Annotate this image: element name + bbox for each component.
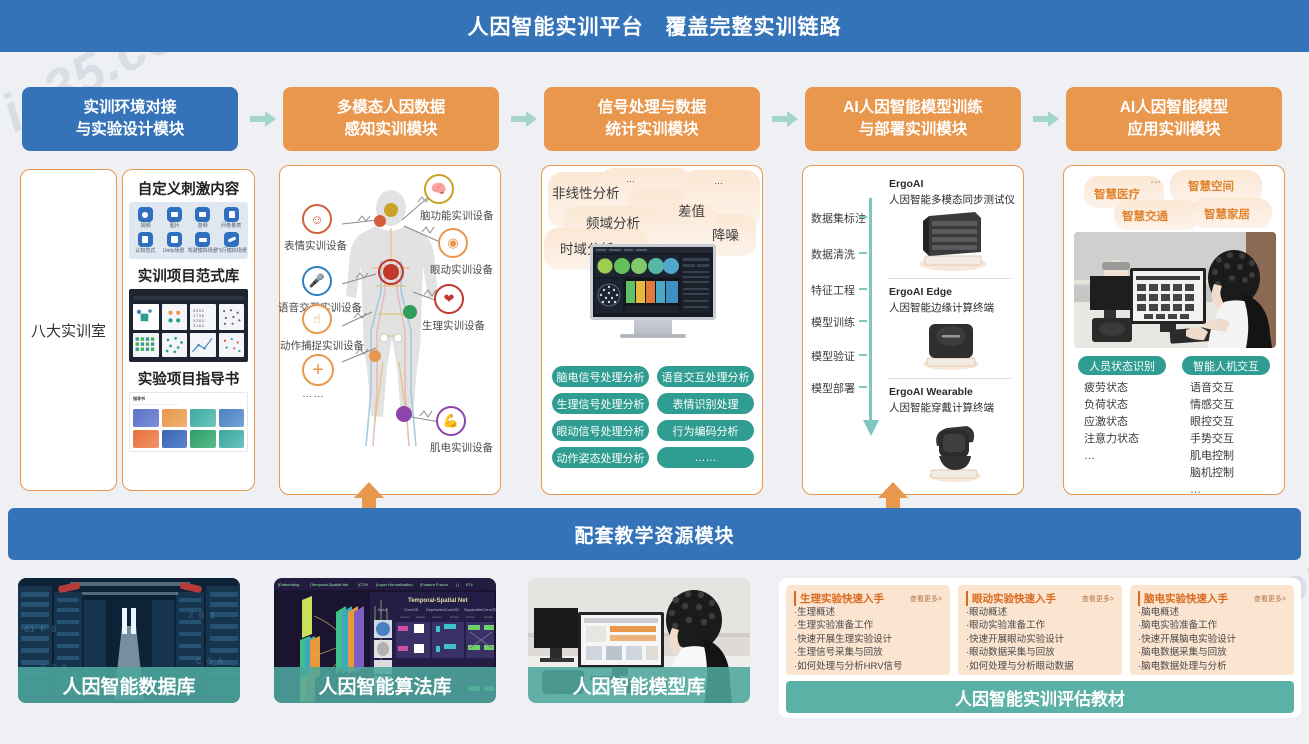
panel-multimodal-sensing: 🧠 脑功能实训设备 ◉ 眼动实训设备 ❤ 生理实训设备 💪 肌电实训设备 ☺ 表… — [279, 165, 501, 495]
svg-text:Input: Input — [378, 607, 388, 612]
edge-box-icon — [911, 316, 991, 372]
svg-text:2 0 1: 2 0 1 — [188, 611, 215, 621]
bottom-card-database[interactable]: 01 F 02 0 19 3 6C 0 AB 2 0 人因智能数据库 — [18, 578, 240, 703]
panel-applications: 智慧医疗 … 智慧空间 智慧交通 智慧家居 — [1063, 165, 1285, 495]
design-modules-box: 自定义刺激内容 视频 图片 音频 问卷量表 认知范式 Unity场景 驾驶模拟场… — [122, 169, 255, 491]
stimulus-tile-grid[interactable]: 视频 图片 音频 问卷量表 认知范式 Unity场景 驾驶模拟场景 飞行模拟场景 — [129, 202, 248, 259]
textbook-column-title: 生理实验快速入手 — [794, 591, 884, 606]
textbook-column-physiology[interactable]: 生理实验快速入手 查看更多> ·生理概述 ·生理实验准备工作 ·快速开展生理实验… — [786, 585, 950, 675]
stimulus-tile[interactable]: 问卷量表 — [218, 207, 245, 229]
module-header-1-line2: 与实验设计模块 — [76, 119, 185, 141]
svg-text:Conv2D: Conv2D — [404, 607, 419, 612]
device-title-ergoai: ErgoAI — [889, 178, 923, 190]
processing-tag[interactable]: 语音交互处理分析 — [657, 366, 754, 387]
svg-text:ETc: ETc — [466, 582, 473, 587]
svg-text:|Temporal-Spatial Net: |Temporal-Spatial Net — [310, 582, 349, 587]
flow-arrow-icon — [770, 109, 800, 129]
module-header-4[interactable]: AI人因智能模型训练 与部署实训模块 — [805, 87, 1021, 151]
eye-icon[interactable]: ◉ — [438, 228, 468, 258]
svg-text:DepthwiseConv2D: DepthwiseConv2D — [426, 607, 459, 612]
video-icon — [138, 207, 153, 222]
method-ellipsis-2: … — [714, 176, 725, 186]
panel-row: 八大实训室 自定义刺激内容 视频 图片 音频 问卷量表 认知范式 Unity场景… — [0, 165, 1309, 495]
pill-hci[interactable]: 智能人机交互 — [1182, 356, 1270, 375]
paradigm-icon — [138, 232, 153, 247]
eeg-lab-photo — [1074, 232, 1276, 348]
svg-text:SeparableConv2D: SeparableConv2D — [464, 607, 496, 612]
app-item: 情感交互 — [1190, 397, 1234, 414]
monitor-base — [620, 334, 686, 338]
device-label-emg: 肌电实训设备 — [430, 440, 493, 455]
app-item: 手势交互 — [1190, 431, 1234, 448]
app-item: 语音交互 — [1190, 380, 1234, 397]
svg-text:|Feature Fusion: |Feature Fusion — [420, 582, 448, 587]
textbook-column-title: 脑电实验快速入手 — [1138, 591, 1228, 606]
app-item: 疲劳状态 — [1084, 380, 1139, 397]
processing-tag[interactable]: 生理信号处理分析 — [552, 393, 649, 414]
app-item: 负荷状态 — [1084, 397, 1139, 414]
smiley-icon[interactable]: ☺ — [302, 204, 332, 234]
pipeline-axis — [869, 198, 872, 420]
device-label-more: …… — [302, 388, 325, 400]
processing-tag-grid: 脑电信号处理分析 语音交互处理分析 生理信号处理分析 表情识别处理 眼动信号处理… — [552, 366, 754, 468]
textbook-item[interactable]: ·快速开展生理实验设计 — [794, 633, 942, 646]
svg-text:Output: Output — [484, 615, 493, 619]
svg-text:01 F 0: 01 F 0 — [24, 625, 56, 635]
processing-tag[interactable]: 表情识别处理 — [657, 393, 754, 414]
svg-text:C 0 A: C 0 A — [196, 657, 224, 667]
module-header-5[interactable]: AI人因智能模型 应用实训模块 — [1066, 87, 1282, 151]
flow-arrow-icon — [509, 109, 539, 129]
textbook-item[interactable]: ·眼动实验准备工作 — [966, 619, 1114, 632]
analysis-software-screenshot[interactable] — [590, 244, 716, 338]
app-scene-home: 智慧家居 — [1204, 206, 1250, 222]
guidebook-thumbnail[interactable]: 指导书 ——————————————— — [129, 392, 248, 452]
module-header-5-line1: AI人因智能模型 — [1120, 97, 1229, 119]
svg-text:1 7 4 6: 1 7 4 6 — [193, 314, 203, 318]
eight-labs-box[interactable]: 八大实训室 — [20, 169, 117, 491]
bottom-card-caption: 人因智能实训评估教材 — [786, 681, 1294, 713]
module-header-1[interactable]: 实训环境对接 与实验设计模块 — [22, 87, 238, 151]
plus-icon[interactable]: + — [302, 354, 334, 386]
svg-text:Kernel: Kernel — [400, 615, 409, 619]
textbook-column-eeg[interactable]: 脑电实验快速入手 查看更多> ·脑电概述 ·脑电实验准备工作 ·快速开展脑电实验… — [1130, 585, 1294, 675]
stimulus-tile[interactable]: 认知范式 — [132, 232, 159, 254]
stimulus-caption: 自定义刺激内容 — [129, 178, 248, 199]
pipeline-step-5: 模型验证 — [811, 348, 855, 364]
bottom-card-caption: 人因智能数据库 — [18, 667, 240, 703]
paradigm-library-thumbnail[interactable]: 8 3 9 21 7 4 65 2 8 39 1 6 4 — [129, 289, 248, 362]
app-scene-more: … — [1150, 174, 1164, 186]
app-item: 脑机控制 — [1190, 465, 1234, 482]
bottom-card-caption: 人因智能算法库 — [274, 667, 496, 703]
module-header-4-line2: 与部署实训模块 — [859, 119, 968, 141]
method-ellipsis-1: … — [626, 174, 637, 184]
svg-text:9 1 6 4: 9 1 6 4 — [193, 324, 203, 328]
svg-text:| |: | | — [456, 582, 459, 587]
pill-state-recognition[interactable]: 人员状态识别 — [1078, 356, 1166, 375]
app-item: 肌电控制 — [1190, 448, 1234, 465]
panel-training-environment: 八大实训室 自定义刺激内容 视频 图片 音频 问卷量表 认知范式 Unity场景… — [18, 165, 240, 495]
module-header-2-line1: 多模态人因数据 — [337, 97, 446, 119]
pipeline-step-2: 数据清洗 — [811, 246, 855, 262]
unity-scene-icon — [167, 232, 182, 247]
device-label-physio: 生理实训设备 — [422, 318, 485, 333]
svg-text:|CTM: |CTM — [358, 582, 368, 587]
svg-text:Data: Data — [274, 631, 275, 640]
device-label-expression: 表情实训设备 — [284, 238, 347, 253]
flight-sim-icon — [224, 232, 239, 247]
method-denoise: 降噪 — [712, 224, 739, 244]
svg-text:Kernel: Kernel — [466, 615, 475, 619]
textbook-item[interactable]: ·快速开展眼动实验设计 — [966, 633, 1114, 646]
processing-tag[interactable]: …… — [657, 447, 754, 468]
app-list-right: 语音交互 情感交互 眼控交互 手势交互 肌电控制 脑机控制 … — [1190, 380, 1234, 499]
app-item: … — [1190, 482, 1234, 499]
textbook-item[interactable]: ·眼动数据采集与回放 — [966, 646, 1114, 659]
textbook-item[interactable]: ·脑电数据处理与分析 — [1138, 660, 1286, 673]
more-link[interactable]: 查看更多> — [910, 594, 942, 604]
muscle-icon[interactable]: 💪 — [436, 406, 466, 436]
pipeline-arrow-icon — [861, 416, 881, 438]
textbook-item[interactable]: ·脑电实验准备工作 — [1138, 619, 1286, 632]
page-title: 人因智能实训平台 覆盖完整实训链路 — [468, 11, 842, 41]
stimulus-tile[interactable]: 飞行模拟场景 — [218, 232, 245, 254]
svg-text:Output: Output — [416, 615, 425, 619]
heart-icon[interactable]: ❤ — [434, 284, 464, 314]
resource-bar: 配套教学资源模块 — [8, 508, 1301, 560]
svg-text:Kernel: Kernel — [432, 615, 441, 619]
brain-icon[interactable]: 🧠 — [424, 174, 454, 204]
resource-bar-title: 配套教学资源模块 — [574, 521, 734, 548]
module-header-3[interactable]: 信号处理与数据 统计实训模块 — [544, 87, 760, 151]
textbook-column-title: 眼动实验快速入手 — [966, 591, 1056, 606]
driving-sim-icon — [195, 232, 210, 247]
microphone-icon[interactable]: 🎤 — [302, 266, 332, 296]
processing-tag[interactable]: 眼动信号处理分析 — [552, 420, 649, 441]
page-title-bar: 人因智能实训平台 覆盖完整实训链路 — [0, 0, 1309, 52]
app-scene-medical: 智慧医疗 — [1094, 186, 1140, 202]
textbook-item[interactable]: ·生理信号采集与回放 — [794, 646, 942, 659]
method-frequency: 频域分析 — [586, 212, 640, 232]
bottom-card-model[interactable]: 人因智能模型库 — [528, 578, 750, 703]
stimulus-tile[interactable]: 视频 — [132, 207, 159, 229]
poster-root: ic35.com ic35.com 人因智能实训平台 覆盖完整实训链路 实训环境… — [0, 0, 1309, 744]
module-header-3-line2: 统计实训模块 — [605, 119, 698, 141]
module-header-1-line1: 实训环境对接 — [83, 97, 176, 119]
app-list-left: 疲劳状态 负荷状态 应激状态 注意力状态 … — [1084, 380, 1139, 465]
textbook-item[interactable]: ·眼动概述 — [966, 606, 1114, 619]
pipeline-step-3: 特征工程 — [811, 282, 855, 298]
questionnaire-icon — [224, 207, 239, 222]
app-item: … — [1084, 448, 1139, 465]
audio-icon — [195, 207, 210, 222]
monitor-stand — [634, 320, 672, 334]
textbook-item[interactable]: ·脑电概述 — [1138, 606, 1286, 619]
stimulus-tile[interactable]: 图片 — [161, 207, 188, 229]
app-scene-traffic: 智慧交通 — [1122, 208, 1168, 224]
textbook-item[interactable]: ·如何处理与分析眼动数据 — [966, 660, 1114, 673]
image-icon — [167, 207, 182, 222]
bottom-card-textbook: 生理实验快速入手 查看更多> ·生理概述 ·生理实验准备工作 ·快速开展生理实验… — [779, 578, 1301, 718]
app-scene-space: 智慧空间 — [1188, 178, 1234, 194]
more-link[interactable]: 查看更多> — [1082, 594, 1114, 604]
bottom-card-caption: 人因智能模型库 — [528, 667, 750, 703]
more-link[interactable]: 查看更多> — [1254, 594, 1286, 604]
pipeline-step-6: 模型部署 — [811, 380, 855, 396]
stimulus-tile[interactable]: Unity场景 — [161, 232, 188, 254]
bottom-card-row: 01 F 02 0 19 3 6C 0 AB 2 0 人因智能数据库 |Embe… — [0, 578, 1309, 718]
svg-text:Output: Output — [450, 615, 459, 619]
textbook-item[interactable]: ·如何处理与分析HRV信号 — [794, 660, 942, 673]
textbook-item[interactable]: ·生理概述 — [794, 606, 942, 619]
method-difference: 差值 — [678, 200, 705, 220]
device-label-eye: 眼动实训设备 — [430, 262, 493, 277]
device-subtitle-edge: 人因智能边缘计算终端 — [889, 300, 994, 315]
svg-text:|Layer Normalization: |Layer Normalization — [376, 582, 413, 587]
pipeline-step-4: 模型训练 — [811, 314, 855, 330]
device-label-brain: 脑功能实训设备 — [420, 208, 494, 223]
flow-arrow-icon — [1031, 109, 1061, 129]
stimulus-tile[interactable]: 驾驶模拟场景 — [190, 232, 217, 254]
svg-text:5 2 8 3: 5 2 8 3 — [193, 319, 203, 323]
device-subtitle-wearable: 人因智能穿戴计算终端 — [889, 400, 994, 415]
app-item: 注意力状态 — [1084, 431, 1139, 448]
device-title-edge: ErgoAI Edge — [889, 286, 952, 298]
eight-labs-label: 八大实训室 — [31, 320, 106, 341]
flow-arrow-icon — [248, 109, 278, 129]
app-item: 应激状态 — [1084, 414, 1139, 431]
processing-tag[interactable]: 行为编码分析 — [657, 420, 754, 441]
device-subtitle-ergoai: 人因智能多模态同步测试仪 — [889, 192, 1015, 207]
hand-icon[interactable]: ☝ — [302, 304, 332, 334]
device-label-motion: 动作捕捉实训设备 — [280, 338, 364, 353]
panel-signal-processing: 非线性分析 … 频域分析 时域分析 差值 … 降噪 滤波 — [541, 165, 763, 495]
svg-text:|Embedding: |Embedding — [278, 582, 299, 587]
pipeline-step-1: 数据集标注 — [811, 210, 866, 226]
module-header-5-line2: 应用实训模块 — [1127, 119, 1220, 141]
stimulus-tile[interactable]: 音频 — [190, 207, 217, 229]
svg-text:Temporal-Spatial Net: Temporal-Spatial Net — [408, 598, 468, 604]
module-header-2-line2: 感知实训模块 — [344, 119, 437, 141]
module-header-row: 实训环境对接 与实验设计模块 多模态人因数据 感知实训模块 信号处理与数据 统计… — [0, 87, 1309, 151]
textbook-item[interactable]: ·脑电数据采集与回放 — [1138, 646, 1286, 659]
processing-tag[interactable]: 动作姿态处理分析 — [552, 447, 649, 468]
paradigm-library-caption: 实训项目范式库 — [129, 265, 248, 286]
smartwatch-icon — [915, 416, 995, 486]
textbook-column-eyetracking[interactable]: 眼动实验快速入手 查看更多> ·眼动概述 ·眼动实验准备工作 ·快速开展眼动实验… — [958, 585, 1122, 675]
app-item: 眼控交互 — [1190, 414, 1234, 431]
device-title-wearable: ErgoAI Wearable — [889, 386, 973, 398]
module-header-4-line1: AI人因智能模型训练 — [843, 97, 983, 119]
method-nonlinear: 非线性分析 — [552, 182, 620, 202]
module-header-2[interactable]: 多模态人因数据 感知实训模块 — [283, 87, 499, 151]
human-body-diagram: 🧠 脑功能实训设备 ◉ 眼动实训设备 ❤ 生理实训设备 💪 肌电实训设备 ☺ 表… — [280, 166, 500, 494]
server-rack-icon — [907, 208, 993, 272]
textbook-item[interactable]: ·生理实验准备工作 — [794, 619, 942, 632]
module-header-3-line1: 信号处理与数据 — [598, 97, 707, 119]
panel-model-training: 数据集标注 数据清洗 特征工程 模型训练 模型验证 模型部署 ErgoAI 人因… — [802, 165, 1024, 495]
bottom-card-algorithm[interactable]: |Embedding|Temporal-Spatial Net|CTM|Laye… — [274, 578, 496, 703]
textbook-item[interactable]: ·快速开展脑电实验设计 — [1138, 633, 1286, 646]
processing-tag[interactable]: 脑电信号处理分析 — [552, 366, 649, 387]
svg-text:8 3 9 2: 8 3 9 2 — [193, 309, 203, 313]
guidebook-caption: 实验项目指导书 — [129, 368, 248, 389]
